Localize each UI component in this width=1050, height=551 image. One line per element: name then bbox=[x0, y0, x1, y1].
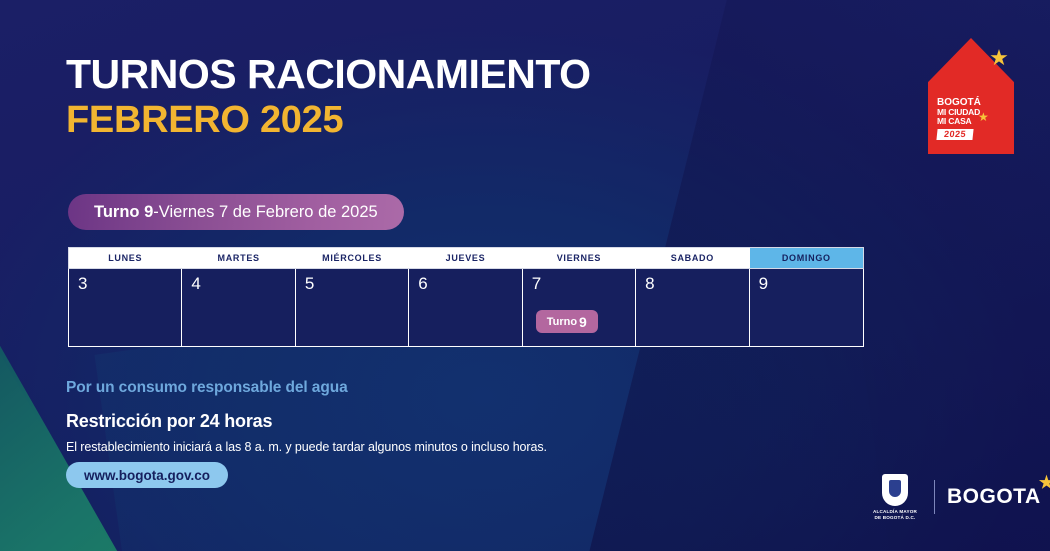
bogota-mi-casa-logo: ★ ★ BOGOTÁ MI CIUDAD MI CASA 2025 bbox=[928, 38, 1014, 154]
alcaldia-caption-line1: ALCALDÍA MAYOR bbox=[868, 509, 922, 515]
calendar-cell-day-9: 9 bbox=[750, 269, 863, 346]
logo-divider bbox=[934, 480, 935, 514]
calendar-header-row: LUNES MARTES MIÉRCOLES JUEVES VIERNES SA… bbox=[68, 247, 864, 269]
footer-copy-block: Por un consumo responsable del agua Rest… bbox=[66, 379, 686, 454]
poster-canvas: TURNOS RACIONAMIENTO FEBRERO 2025 Turno … bbox=[0, 0, 1050, 551]
bogota-wordmark-text: BOGOT bbox=[947, 485, 1025, 508]
shield-icon bbox=[882, 474, 908, 506]
house-logo-line3: MI CASA bbox=[937, 117, 1005, 127]
calendar-cell-day-6: 6 bbox=[409, 269, 522, 346]
calendar-day-number: 7 bbox=[532, 275, 635, 292]
copy-kicker: Por un consumo responsable del agua bbox=[66, 379, 686, 397]
calendar-day-number: 6 bbox=[418, 275, 521, 292]
copy-body: El restablecimiento iniciará a las 8 a. … bbox=[66, 440, 686, 454]
calendar-cell-day-4: 4 bbox=[182, 269, 295, 346]
turno-banner-label: Turno 9 bbox=[94, 203, 153, 222]
star-icon: ★ bbox=[1039, 474, 1050, 491]
calendar-days-row: 3 4 5 6 7 Turno 9 8 9 bbox=[68, 269, 864, 347]
calendar-week-table: LUNES MARTES MIÉRCOLES JUEVES VIERNES SA… bbox=[68, 247, 864, 347]
calendar-header-lunes: LUNES bbox=[69, 248, 182, 268]
copy-headline: Restricción por 24 horas bbox=[66, 411, 686, 432]
turno-banner-date: Viernes 7 de Febrero de 2025 bbox=[159, 203, 378, 222]
turno-badge: Turno 9 bbox=[536, 310, 598, 333]
alcaldia-caption: ALCALDÍA MAYOR DE BOGOTÁ D.C. bbox=[868, 509, 922, 520]
calendar-day-number: 4 bbox=[191, 275, 294, 292]
turno-banner: Turno 9 - Viernes 7 de Febrero de 2025 bbox=[68, 194, 404, 230]
footer-logo-group: ALCALDÍA MAYOR DE BOGOTÁ D.C. BOGOTA ★ bbox=[868, 474, 1047, 520]
calendar-cell-day-5: 5 bbox=[296, 269, 409, 346]
alcaldia-logo: ALCALDÍA MAYOR DE BOGOTÁ D.C. bbox=[868, 474, 922, 520]
calendar-cell-day-7: 7 Turno 9 bbox=[523, 269, 636, 346]
calendar-day-number: 5 bbox=[305, 275, 408, 292]
calendar-header-martes: MARTES bbox=[182, 248, 295, 268]
turno-badge-word: Turno bbox=[547, 316, 577, 328]
calendar-header-miercoles: MIÉRCOLES bbox=[296, 248, 409, 268]
calendar-day-number: 8 bbox=[645, 275, 748, 292]
calendar-header-viernes: VIERNES bbox=[523, 248, 636, 268]
page-title: TURNOS RACIONAMIENTO FEBRERO 2025 bbox=[66, 52, 591, 141]
title-secondary: FEBRERO 2025 bbox=[66, 101, 591, 141]
star-icon: ★ bbox=[988, 47, 1010, 69]
calendar-day-number: 3 bbox=[78, 275, 181, 292]
website-url-pill[interactable]: www.bogota.gov.co bbox=[66, 462, 228, 488]
calendar-cell-day-3: 3 bbox=[69, 269, 182, 346]
house-logo-year: 2025 bbox=[936, 129, 973, 140]
calendar-day-number: 9 bbox=[759, 275, 863, 292]
bogota-wordmark: BOGOTA ★ bbox=[947, 485, 1047, 509]
alcaldia-caption-line2: DE BOGOTÁ D.C. bbox=[868, 515, 922, 521]
house-logo-text: BOGOTÁ MI CIUDAD MI CASA 2025 bbox=[937, 97, 1005, 140]
calendar-cell-day-8: 8 bbox=[636, 269, 749, 346]
calendar-header-jueves: JUEVES bbox=[409, 248, 522, 268]
turno-badge-number: 9 bbox=[579, 314, 587, 330]
calendar-header-domingo: DOMINGO bbox=[750, 248, 863, 268]
calendar-header-sabado: SABADO bbox=[636, 248, 749, 268]
title-primary: TURNOS RACIONAMIENTO bbox=[66, 52, 591, 96]
